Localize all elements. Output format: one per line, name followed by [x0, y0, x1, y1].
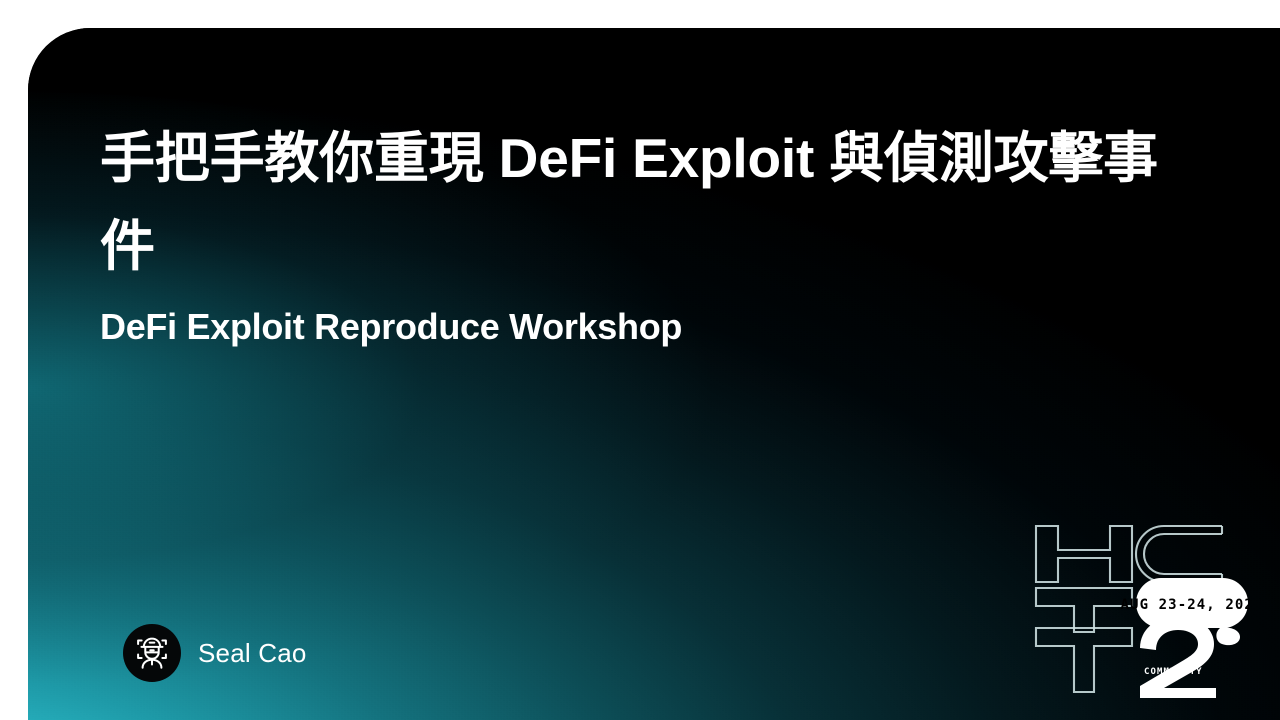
page-title: 手把手教你重現 DeFi Exploit 與偵測攻擊事件 [100, 114, 1190, 290]
logo-graphic: AUG 23-24, 2024 COMMUNITY [1032, 520, 1250, 698]
logo-letter-t-upper [1036, 588, 1132, 632]
hacker-avatar-icon [129, 630, 175, 676]
hitcon-community-logo: AUG 23-24, 2024 COMMUNITY [1032, 520, 1250, 698]
logo-letter-c [1136, 526, 1222, 582]
logo-community-label: COMMUNITY [1144, 667, 1203, 677]
speaker-credit: Seal Cao [123, 624, 307, 682]
title-slide: 手把手教你重現 DeFi Exploit 與偵測攻擊事件 DeFi Exploi… [28, 28, 1280, 720]
logo-date-text: AUG 23-24, 2024 [1121, 597, 1250, 613]
speaker-name: Seal Cao [198, 638, 307, 669]
avatar [123, 624, 181, 682]
logo-date-badge: AUG 23-24, 2024 [1121, 578, 1250, 628]
headline-block: 手把手教你重現 DeFi Exploit 與偵測攻擊事件 DeFi Exploi… [100, 114, 1190, 352]
logo-accent-tail [1216, 627, 1240, 645]
logo-letter-h [1036, 526, 1132, 582]
page-subtitle: DeFi Exploit Reproduce Workshop [100, 302, 1190, 352]
logo-numeral-two [1140, 616, 1216, 698]
logo-letter-t-lower [1036, 628, 1132, 692]
